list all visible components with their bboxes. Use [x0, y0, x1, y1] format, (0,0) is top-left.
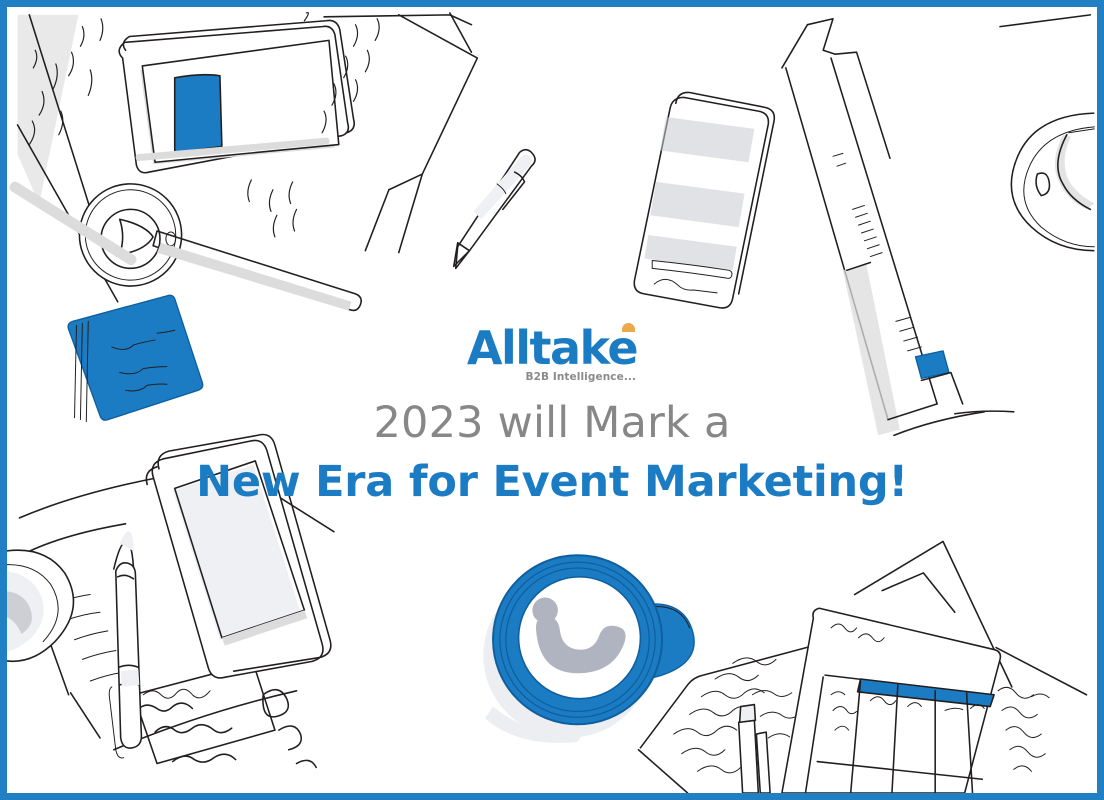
desk-flatlay-illustration: .ln { fill:none; stroke:#231f20; stroke-… [7, 7, 1097, 793]
promotional-banner: .ln { fill:none; stroke:#231f20; stroke-… [0, 0, 1104, 800]
